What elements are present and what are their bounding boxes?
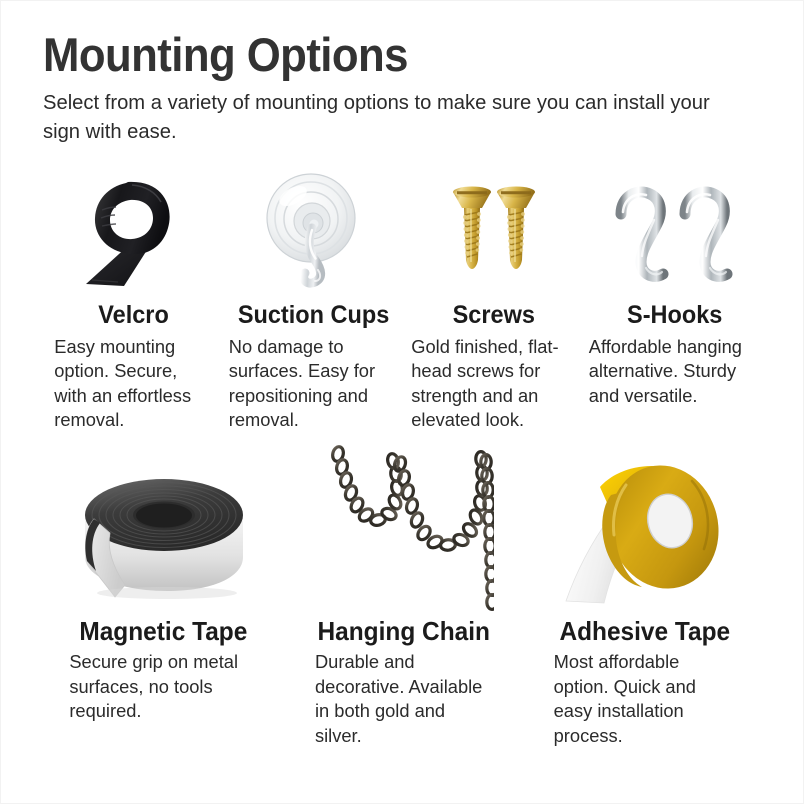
option-card-hanging-chain[interactable]: Hanging Chain Durable and decorative. Av… — [284, 451, 525, 749]
velcro-strap-icon — [43, 160, 224, 296]
option-description: Most affordable option. Quick and easy i… — [550, 650, 734, 748]
options-row-1: Velcro Easy mounting option. Secure, wit… — [43, 160, 765, 433]
option-card-magnetic-tape[interactable]: Magnetic Tape Secure grip on metal surfa… — [43, 451, 284, 749]
option-description: Durable and decorative. Available in bot… — [311, 650, 487, 748]
option-title: Magnetic Tape — [79, 617, 247, 646]
hanging-chain-icon — [284, 451, 525, 611]
option-title: S-Hooks — [627, 302, 722, 330]
adhesive-tape-roll-icon — [524, 451, 765, 611]
option-title: Adhesive Tape — [559, 617, 730, 646]
options-row-2: Magnetic Tape Secure grip on metal surfa… — [43, 451, 765, 749]
suction-cup-hook-icon — [224, 160, 405, 296]
option-description: No damage to surfaces. Easy for repositi… — [225, 335, 401, 433]
s-hooks-icon — [585, 160, 766, 296]
option-title: Velcro — [98, 302, 169, 330]
page-subtitle: Select from a variety of mounting option… — [43, 88, 723, 146]
option-card-velcro[interactable]: Velcro Easy mounting option. Secure, wit… — [43, 160, 224, 433]
option-card-suction-cups[interactable]: Suction Cups No damage to surfaces. Easy… — [224, 160, 405, 433]
option-description: Easy mounting option. Secure, with an ef… — [50, 335, 218, 433]
option-description: Affordable hanging alternative. Sturdy a… — [585, 335, 761, 409]
option-card-adhesive-tape[interactable]: Adhesive Tape Most affordable option. Qu… — [524, 451, 765, 749]
page-title: Mounting Options — [43, 31, 714, 80]
header: Mounting Options Select from a variety o… — [43, 31, 765, 146]
gold-screws-icon — [404, 160, 585, 296]
option-description: Gold finished, flat-head screws for stre… — [407, 335, 579, 433]
mounting-options-infographic: Mounting Options Select from a variety o… — [0, 0, 804, 804]
option-description: Secure grip on metal surfaces, no tools … — [65, 650, 261, 724]
magnetic-tape-roll-icon — [43, 451, 284, 611]
option-card-s-hooks[interactable]: S-Hooks Affordable hanging alternative. … — [585, 160, 766, 433]
option-card-screws[interactable]: Screws Gold finished, flat-head screws f… — [404, 160, 585, 433]
option-title: Hanging Chain — [318, 617, 490, 646]
option-title: Screws — [453, 302, 535, 330]
option-title: Suction Cups — [238, 302, 389, 330]
